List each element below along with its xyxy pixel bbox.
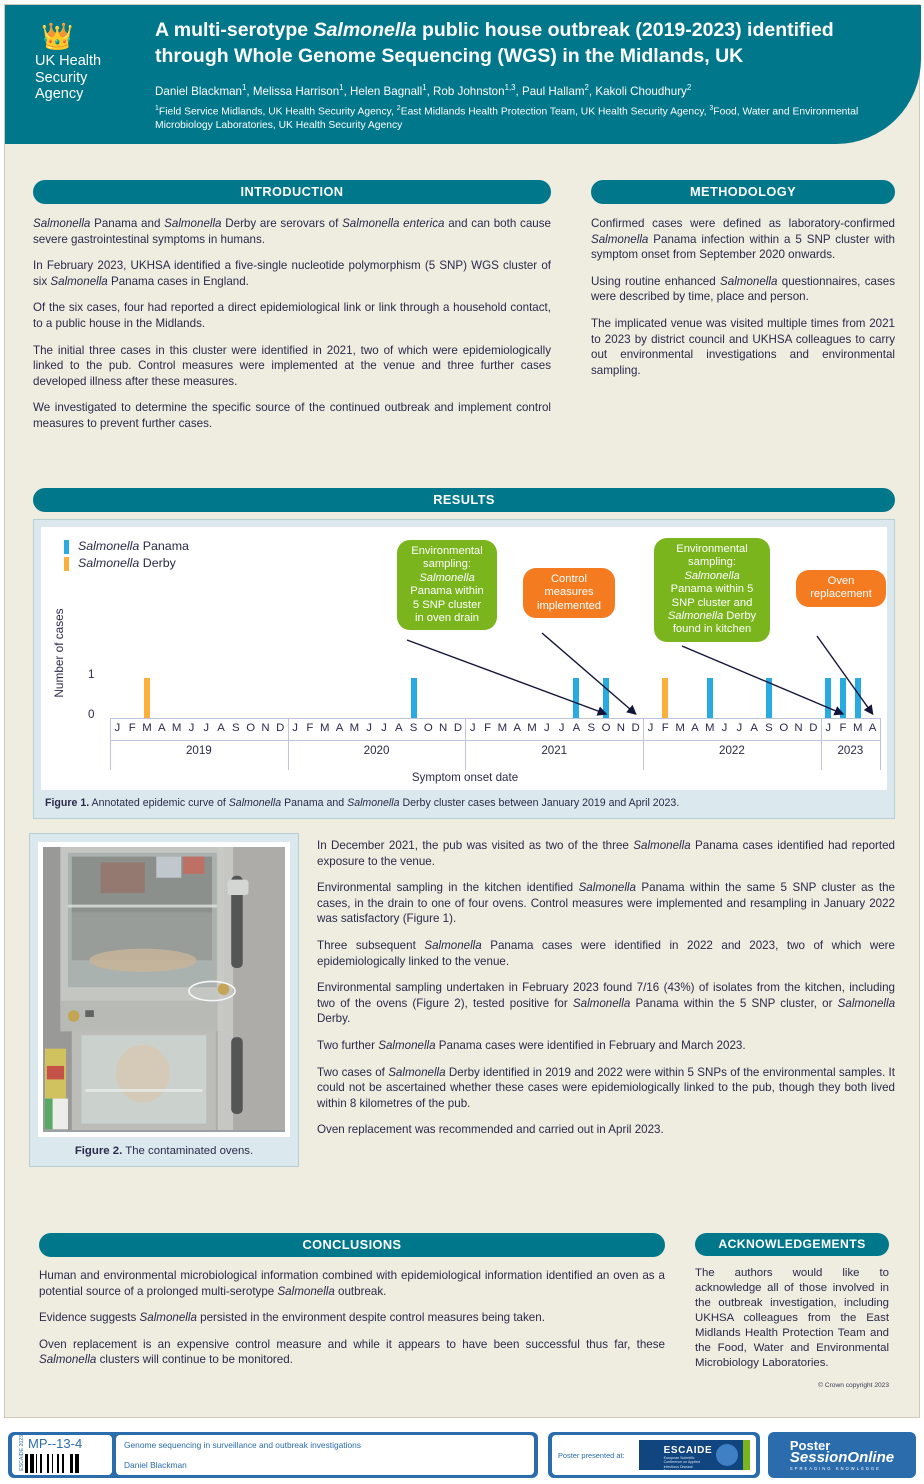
footer-left-block: ESCAIDE 2023 MP--13-4 Genome sequencing … bbox=[8, 1432, 538, 1478]
figure1-caption: Figure 1. Annotated epidemic curve of Sa… bbox=[41, 796, 887, 811]
poster-code-block: ESCAIDE 2023 MP--13-4 bbox=[12, 1435, 112, 1475]
introduction-heading: INTRODUCTION bbox=[33, 180, 551, 204]
month-tick: O bbox=[421, 722, 435, 734]
paragraph: Two cases of Salmonella Derby identified… bbox=[317, 1065, 895, 1112]
poster-code: MP--13-4 bbox=[28, 1436, 82, 1451]
month-tick: A bbox=[392, 722, 406, 734]
month-tick: J bbox=[540, 722, 554, 734]
month-tick: M bbox=[673, 722, 687, 734]
month-tick: J bbox=[184, 722, 198, 734]
month-tick: F bbox=[658, 722, 672, 734]
escaide-right-stripe bbox=[743, 1440, 750, 1470]
y-tick: 1 bbox=[88, 668, 94, 681]
paragraph: Confirmed cases were defined as laborato… bbox=[591, 216, 895, 263]
logo-line-1: UK Health bbox=[35, 53, 143, 70]
month-tick: S bbox=[584, 722, 598, 734]
month-tick: M bbox=[318, 722, 332, 734]
month-tick: F bbox=[303, 722, 317, 734]
month-tick: J bbox=[288, 722, 302, 734]
month-tick: J bbox=[377, 722, 391, 734]
month-tick: A bbox=[333, 722, 347, 734]
month-tick: N bbox=[792, 722, 806, 734]
logo-line-2: Security bbox=[35, 70, 143, 87]
paragraph: Human and environmental microbiological … bbox=[39, 1268, 665, 1299]
ukhsa-logo: 👑 UK Health Security Agency bbox=[35, 23, 143, 103]
month-tick: D bbox=[806, 722, 820, 734]
y-tick: 0 bbox=[88, 708, 94, 721]
footer-session-title: Genome sequencing in surveillance and ou… bbox=[124, 1440, 526, 1450]
year-label: 2020 bbox=[288, 744, 466, 757]
month-tick: J bbox=[555, 722, 569, 734]
month-tick: M bbox=[703, 722, 717, 734]
figure1-caption-text: Annotated epidemic curve of Salmonella P… bbox=[89, 797, 679, 809]
postersessiononline-logo[interactable]: Poster SessionOnline SPREADING KNOWLEDGE bbox=[768, 1432, 916, 1478]
methodology-body: Confirmed cases were defined as laborato… bbox=[591, 216, 895, 378]
month-tick: F bbox=[836, 722, 850, 734]
paragraph: Using routine enhanced Salmonella questi… bbox=[591, 274, 895, 305]
month-tick: A bbox=[155, 722, 169, 734]
month-tick: M bbox=[170, 722, 184, 734]
presented-at-label: Poster presented at: bbox=[558, 1451, 625, 1460]
month-tick: F bbox=[481, 722, 495, 734]
acknowledgements-heading: ACKNOWLEDGEMENTS bbox=[695, 1233, 889, 1256]
paragraph: The implicated venue was visited multipl… bbox=[591, 316, 895, 378]
month-tick: M bbox=[525, 722, 539, 734]
month-tick: A bbox=[747, 722, 761, 734]
figure2-caption: Figure 2. The contaminated ovens. bbox=[38, 1144, 290, 1158]
annotation-env-sampling-1: Environmentalsampling:SalmonellaPanama w… bbox=[397, 540, 497, 630]
month-tick: D bbox=[451, 722, 465, 734]
title-part-1: A multi-serotype bbox=[155, 19, 314, 41]
month-tick: J bbox=[466, 722, 480, 734]
pso-line-3: SPREADING KNOWLEDGE bbox=[790, 1467, 894, 1471]
bar-derby bbox=[144, 678, 150, 718]
month-tick: S bbox=[407, 722, 421, 734]
methodology-section: METHODOLOGY Confirmed cases were defined… bbox=[591, 180, 895, 389]
month-tick: D bbox=[629, 722, 643, 734]
copyright-notice: © Crown copyright 2023 bbox=[695, 1382, 889, 1389]
paragraph: In December 2021, the pub was visited as… bbox=[317, 838, 895, 869]
annotation-env-sampling-2: Environmentalsampling:SalmonellaPanama w… bbox=[654, 538, 770, 642]
crown-icon: 👑 bbox=[41, 23, 143, 49]
figure1-caption-label: Figure 1. bbox=[45, 797, 89, 809]
figure2-caption-label: Figure 2. bbox=[75, 1145, 122, 1157]
year-label: 2022 bbox=[643, 744, 821, 757]
paragraph: We investigated to determine the specifi… bbox=[33, 400, 551, 431]
paragraph: Three subsequent Salmonella Panama cases… bbox=[317, 938, 895, 969]
escaide-banner: ESCAIDE European Scientific Conference o… bbox=[630, 1440, 750, 1470]
x-axis-label: Symptom onset date bbox=[42, 771, 888, 784]
figure1-epidemic-curve: Salmonella PanamaSalmonella Derby Number… bbox=[41, 527, 887, 790]
poster-header: 👑 UK Health Security Agency A multi-sero… bbox=[5, 5, 921, 144]
barcode-bar bbox=[47, 1454, 49, 1473]
bar-panama bbox=[825, 678, 831, 718]
footer-presented-block: Poster presented at: ESCAIDE European Sc… bbox=[548, 1432, 760, 1478]
results-body-text: In December 2021, the pub was visited as… bbox=[317, 838, 895, 1149]
escaide-name: ESCAIDE bbox=[664, 1445, 713, 1456]
month-tick: A bbox=[569, 722, 583, 734]
month-tick: J bbox=[718, 722, 732, 734]
poster-title: A multi-serotype Salmonella public house… bbox=[155, 17, 899, 69]
figure2-block: Figure 2. The contaminated ovens. bbox=[29, 833, 299, 1167]
acknowledgements-section: ACKNOWLEDGEMENTS The authors would like … bbox=[695, 1233, 889, 1389]
month-tick: A bbox=[214, 722, 228, 734]
paragraph: Environmental sampling undertaken in Feb… bbox=[317, 980, 895, 1027]
results-heading: RESULTS bbox=[33, 488, 895, 512]
month-tick: J bbox=[732, 722, 746, 734]
escaide-left-stripe bbox=[630, 1440, 639, 1470]
poster-footer: ESCAIDE 2023 MP--13-4 Genome sequencing … bbox=[0, 1428, 924, 1484]
month-tick: O bbox=[599, 722, 613, 734]
bar-panama bbox=[573, 678, 579, 718]
year-label: 2023 bbox=[821, 744, 880, 757]
barcode-bar bbox=[62, 1454, 64, 1473]
introduction-body: Salmonella Panama and Salmonella Derby a… bbox=[33, 216, 551, 432]
results-section: RESULTS Salmonella PanamaSalmonella Derb… bbox=[33, 488, 895, 819]
globe-icon bbox=[716, 1444, 738, 1466]
barcode-bar bbox=[70, 1454, 73, 1473]
paragraph: Two further Salmonella Panama cases were… bbox=[317, 1038, 895, 1054]
barcode-bar bbox=[40, 1454, 42, 1473]
month-tick: M bbox=[851, 722, 865, 734]
oven-photo-illustration bbox=[43, 847, 285, 1130]
figure2-caption-text: The contaminated ovens. bbox=[122, 1145, 253, 1157]
footer-presenter: Daniel Blackman bbox=[124, 1460, 526, 1470]
month-tick: A bbox=[688, 722, 702, 734]
paragraph: Environmental sampling in the kitchen id… bbox=[317, 880, 895, 927]
month-axis: JFMAMJJASONDJFMAMJJASONDJFMAMJJASONDJFMA… bbox=[110, 719, 880, 741]
paragraph: Of the six cases, four had reported a di… bbox=[33, 300, 551, 331]
month-tick: F bbox=[125, 722, 139, 734]
paragraph: Salmonella Panama and Salmonella Derby a… bbox=[33, 216, 551, 247]
footer-session-block: Genome sequencing in surveillance and ou… bbox=[116, 1435, 534, 1475]
bar-panama bbox=[840, 678, 846, 718]
annotation-control-measures: Controlmeasuresimplemented bbox=[523, 568, 615, 618]
barcode-bar bbox=[30, 1454, 34, 1473]
introduction-section: INTRODUCTION Salmonella Panama and Salmo… bbox=[33, 180, 551, 443]
year-label: 2021 bbox=[465, 744, 643, 757]
logo-line-3: Agency bbox=[35, 86, 143, 103]
annotation-oven-replacement: Ovenreplacement bbox=[796, 570, 886, 607]
methodology-heading: METHODOLOGY bbox=[591, 180, 895, 204]
month-tick: A bbox=[510, 722, 524, 734]
month-tick: M bbox=[140, 722, 154, 734]
paragraph: Oven replacement is an expensive control… bbox=[39, 1337, 665, 1368]
author-list: Daniel Blackman1, Melissa Harrison1, Hel… bbox=[155, 80, 899, 99]
month-tick: J bbox=[362, 722, 376, 734]
month-tick: M bbox=[495, 722, 509, 734]
barcode-bar bbox=[52, 1454, 53, 1473]
month-tick: D bbox=[273, 722, 287, 734]
conclusions-section: CONCLUSIONS Human and environmental micr… bbox=[39, 1233, 665, 1379]
bar-panama bbox=[707, 678, 713, 718]
month-tick: N bbox=[436, 722, 450, 734]
month-tick: A bbox=[866, 722, 880, 734]
paragraph: The authors would like to acknowledge al… bbox=[695, 1266, 889, 1371]
month-tick: O bbox=[777, 722, 791, 734]
year-separator-end bbox=[880, 718, 881, 770]
title-italic-salmonella: Salmonella bbox=[314, 19, 417, 41]
bar-panama bbox=[411, 678, 417, 718]
bar-panama bbox=[603, 678, 609, 718]
barcode-bar bbox=[36, 1454, 37, 1473]
month-tick: S bbox=[762, 722, 776, 734]
affiliation-list: 1Field Service Midlands, UK Health Secur… bbox=[155, 102, 891, 133]
results-panel: Salmonella PanamaSalmonella Derby Number… bbox=[33, 519, 895, 819]
month-tick: J bbox=[643, 722, 657, 734]
acknowledgements-body: The authors would like to acknowledge al… bbox=[695, 1266, 889, 1371]
year-label: 2019 bbox=[110, 744, 288, 757]
month-tick: S bbox=[229, 722, 243, 734]
legend-swatch-derby bbox=[64, 557, 69, 571]
month-tick: O bbox=[244, 722, 258, 734]
month-tick: N bbox=[614, 722, 628, 734]
month-tick: J bbox=[110, 722, 124, 734]
month-tick: N bbox=[258, 722, 272, 734]
poster-canvas: 👑 UK Health Security Agency A multi-sero… bbox=[4, 4, 920, 1418]
barcode-bar bbox=[25, 1454, 28, 1473]
month-tick: M bbox=[347, 722, 361, 734]
conclusions-body: Human and environmental microbiological … bbox=[39, 1268, 665, 1368]
month-tick: J bbox=[199, 722, 213, 734]
bar-panama bbox=[766, 678, 772, 718]
barcode-bar bbox=[75, 1454, 79, 1473]
paragraph: The initial three cases in this cluster … bbox=[33, 343, 551, 390]
barcode-icon bbox=[25, 1454, 109, 1473]
paragraph: Evidence suggests Salmonella persisted i… bbox=[39, 1310, 665, 1326]
paragraph: Oven replacement was recommended and car… bbox=[317, 1122, 895, 1138]
paragraph: In February 2023, UKHSA identified a fiv… bbox=[33, 258, 551, 289]
month-tick: J bbox=[821, 722, 835, 734]
bar-panama bbox=[855, 678, 861, 718]
y-axis-label: Number of cases bbox=[52, 588, 66, 718]
bar-derby bbox=[662, 678, 668, 718]
pso-line-2: SessionOnline bbox=[790, 1450, 894, 1465]
legend-swatch-panama bbox=[64, 540, 69, 554]
escaide-subtitle: European Scientific Conference on Applie… bbox=[664, 1456, 714, 1470]
conclusions-heading: CONCLUSIONS bbox=[39, 1233, 665, 1257]
barcode-bar bbox=[57, 1454, 59, 1473]
oven-photo bbox=[38, 842, 290, 1137]
